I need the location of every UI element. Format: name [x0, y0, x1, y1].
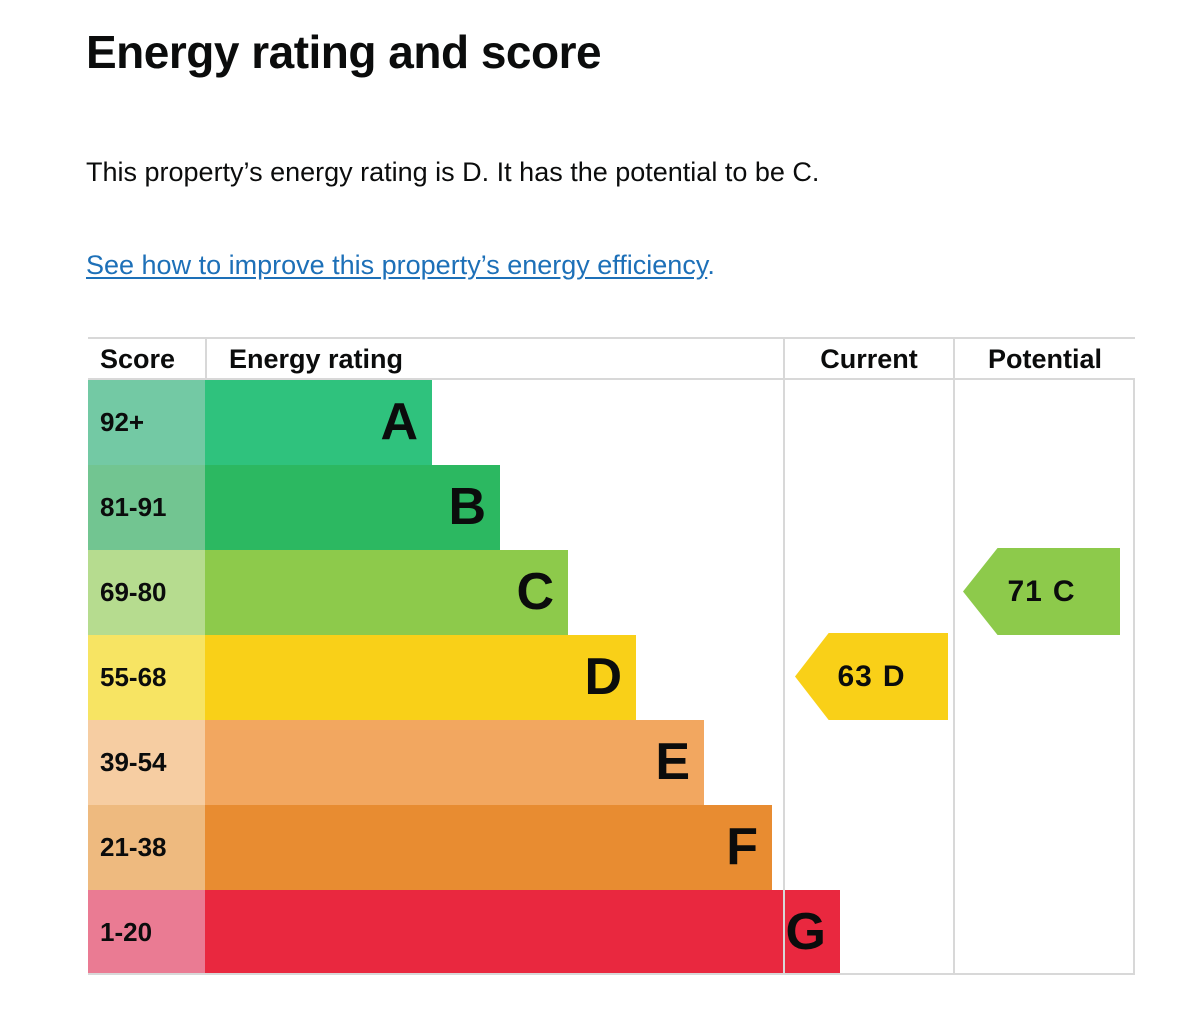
improve-link-line: See how to improve this property’s energ… [86, 248, 715, 282]
table-body: 92+A81-91B69-80C55-68D39-54E21-38F1-20G … [88, 380, 1135, 975]
epc-page: Energy rating and score This property’s … [0, 0, 1200, 1017]
table-row: 55-68D [88, 635, 1135, 720]
rating-band-bar: E [205, 720, 704, 805]
energy-rating-table: Score Energy rating Current Potential 92… [88, 337, 1135, 975]
column-divider-current [783, 380, 785, 975]
rating-band-bar: C [205, 550, 568, 635]
header-energy-rating: Energy rating [205, 339, 783, 380]
table-right-edge [1133, 380, 1135, 975]
table-row: 1-20G [88, 890, 1135, 975]
header-current: Current [783, 339, 953, 380]
score-range-cell: 39-54 [88, 720, 205, 805]
table-row: 39-54E [88, 720, 1135, 805]
table-row: 21-38F [88, 805, 1135, 890]
table-row: 81-91B [88, 465, 1135, 550]
link-trailing-period: . [707, 250, 715, 280]
score-range-cell: 92+ [88, 380, 205, 465]
rating-band-bar: G [205, 890, 840, 975]
potential-band-letter: C [1053, 575, 1076, 609]
table-header-row: Score Energy rating Current Potential [88, 337, 1135, 380]
rating-band-letter: C [516, 563, 554, 621]
rating-band-letter: B [448, 478, 486, 536]
rating-band-bar: F [205, 805, 772, 890]
improve-efficiency-link[interactable]: See how to improve this property’s energ… [86, 250, 707, 280]
table-row: 92+A [88, 380, 1135, 465]
rating-band-bar: B [205, 465, 500, 550]
current-band-letter: D [883, 660, 906, 694]
rating-band-bar: D [205, 635, 636, 720]
rating-band-letter: F [726, 818, 758, 876]
rating-band-letter: E [655, 733, 690, 791]
potential-score: 71 [1007, 575, 1042, 609]
header-potential: Potential [953, 339, 1135, 380]
column-divider-potential [953, 380, 955, 975]
score-range-cell: 69-80 [88, 550, 205, 635]
intro-paragraph: This property’s energy rating is D. It h… [86, 155, 819, 189]
header-score: Score [88, 339, 205, 380]
rating-band-bar: A [205, 380, 432, 465]
score-range-cell: 21-38 [88, 805, 205, 890]
score-range-cell: 1-20 [88, 890, 205, 975]
rating-band-letter: A [380, 393, 418, 451]
page-title: Energy rating and score [86, 26, 601, 78]
table-bottom-edge [88, 973, 1135, 975]
score-range-cell: 81-91 [88, 465, 205, 550]
current-score: 63 [837, 660, 872, 694]
rating-band-letter: G [786, 903, 826, 961]
rating-band-letter: D [584, 648, 622, 706]
score-range-cell: 55-68 [88, 635, 205, 720]
